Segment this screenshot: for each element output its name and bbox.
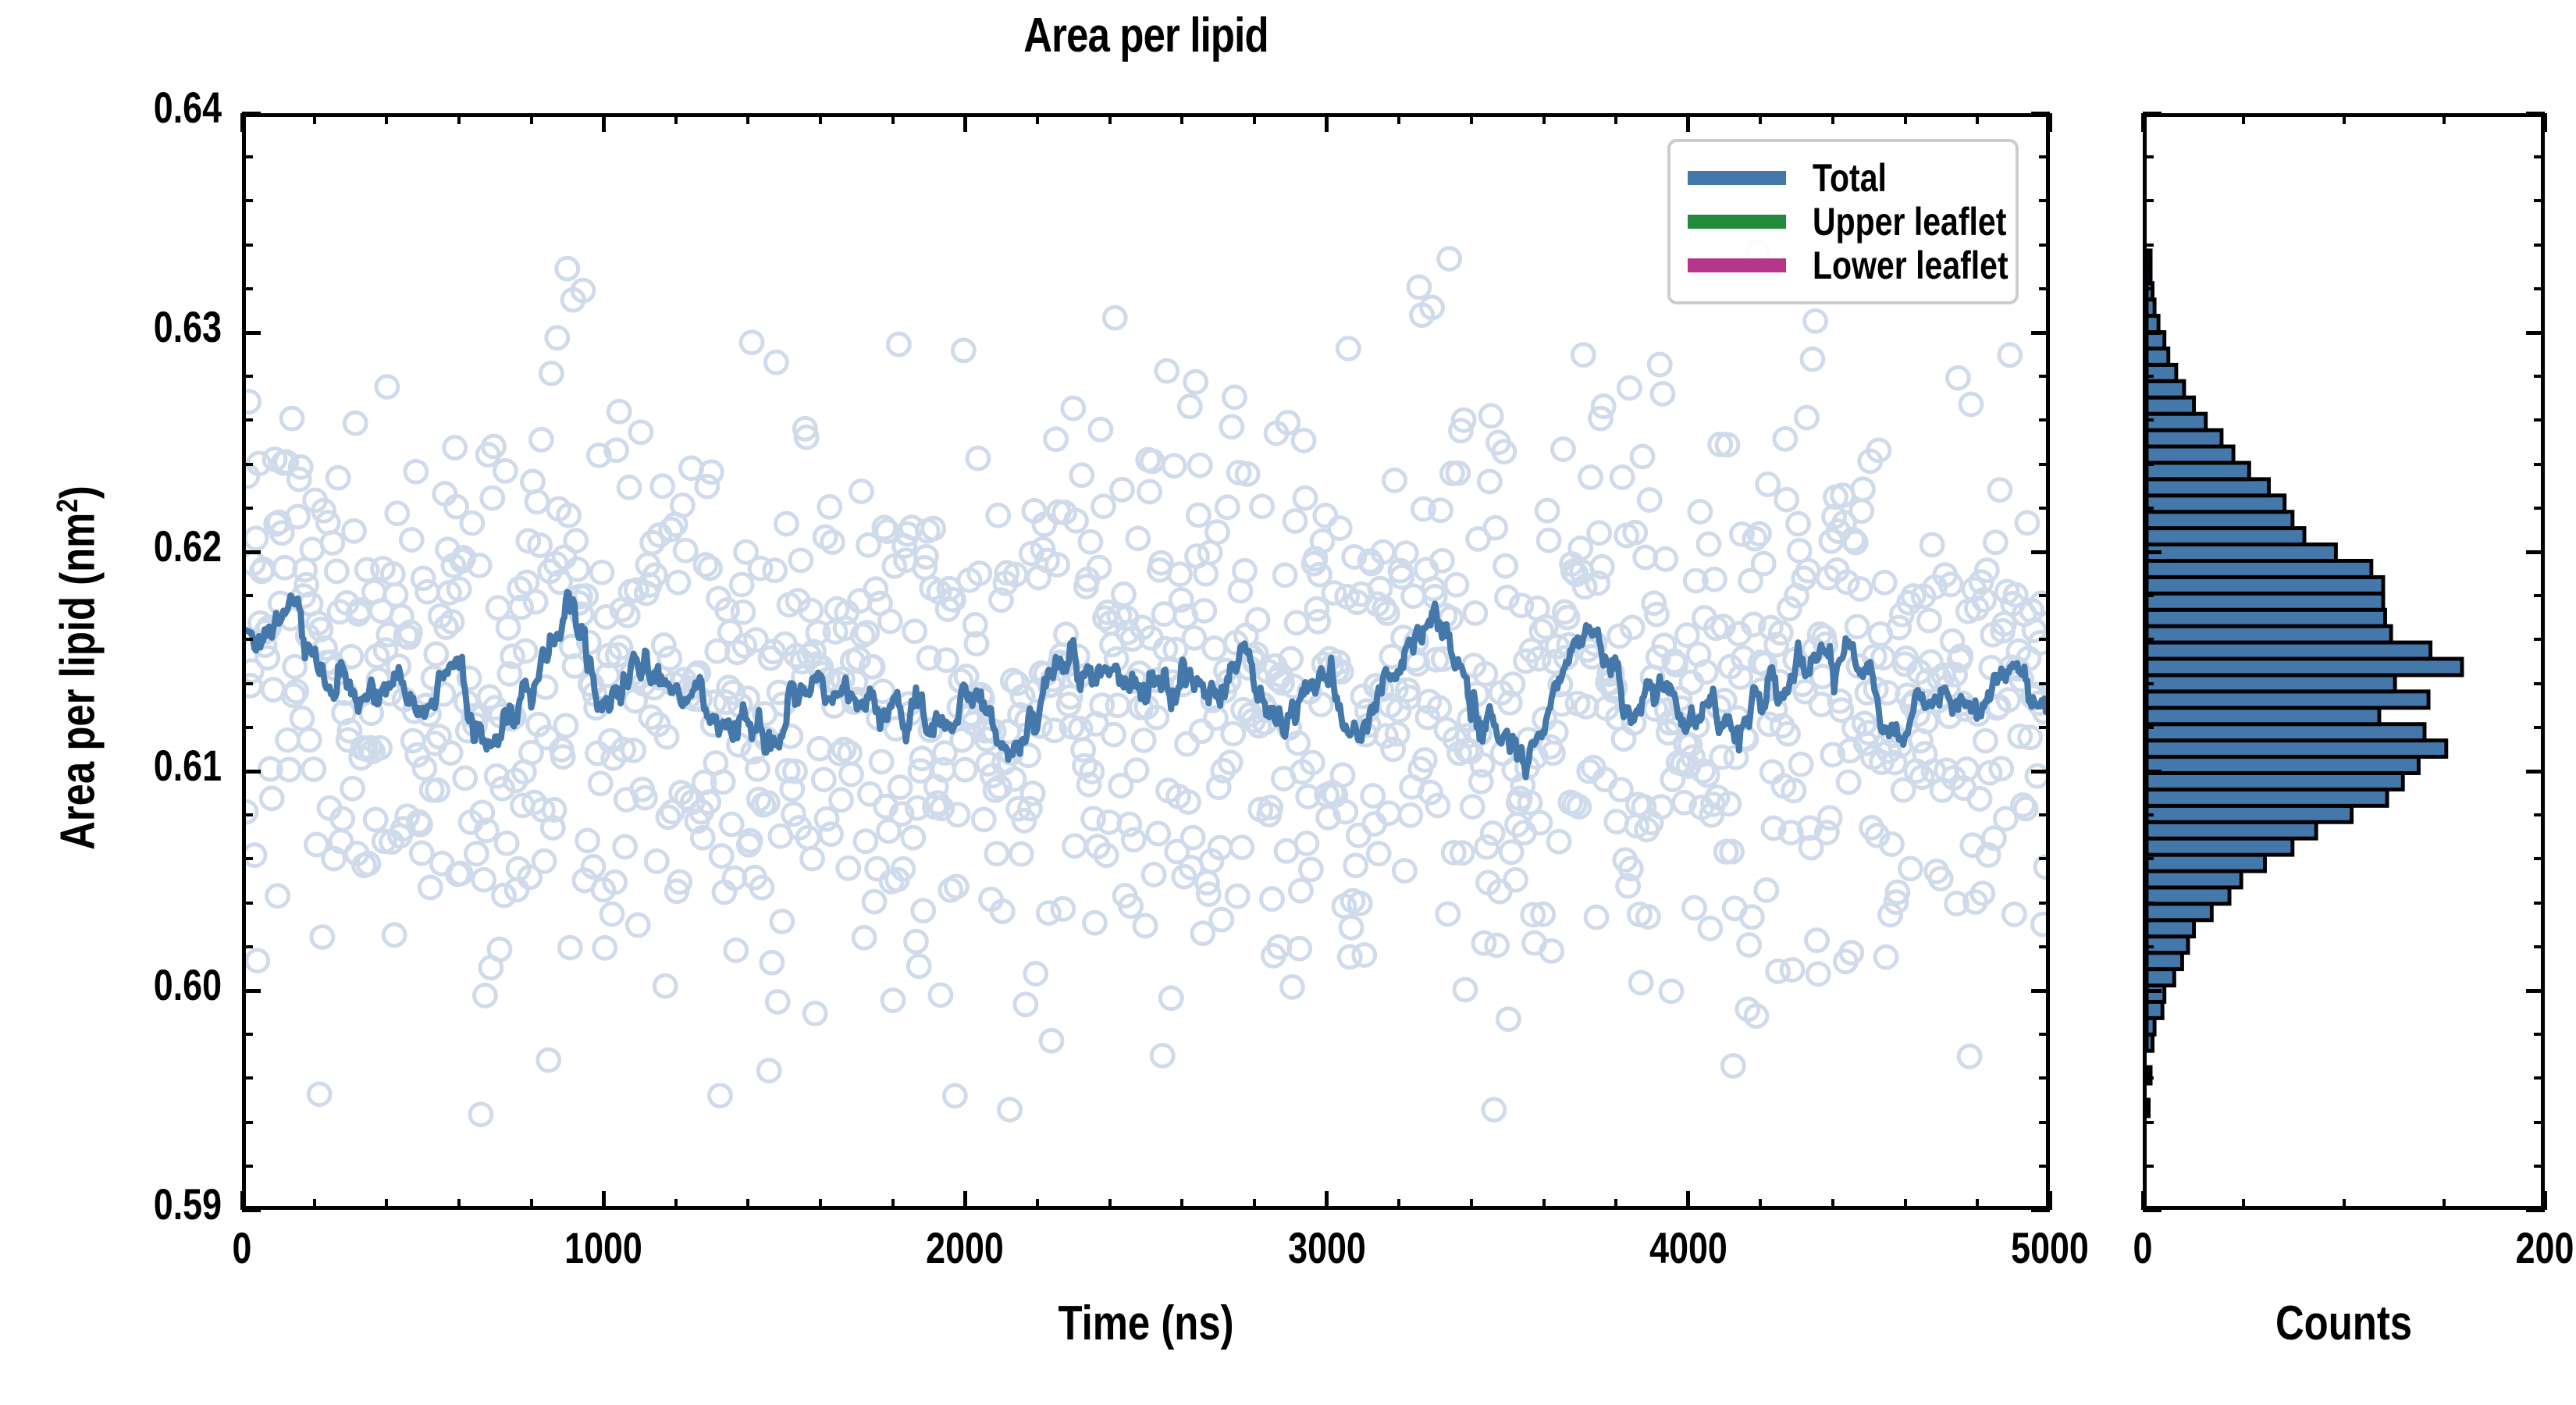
hist-y-tick-right <box>2534 1076 2545 1080</box>
histogram-bar <box>2147 479 2269 496</box>
x-tick-minor-top <box>1614 113 1617 124</box>
histogram-bar <box>2147 789 2387 806</box>
y-tick-minor <box>242 244 253 247</box>
y-tick-label: 0.61 <box>0 740 222 791</box>
y-tick-minor-right <box>2039 638 2050 641</box>
y-tick-minor-right <box>2039 902 2050 905</box>
histogram-bar <box>2147 593 2383 610</box>
x-tick-minor-top <box>891 113 895 124</box>
histogram-bar <box>2147 463 2249 479</box>
hist-y-tick-right <box>2534 857 2545 860</box>
hist-y-tick <box>2143 594 2154 597</box>
x-tick-major <box>602 1191 606 1210</box>
hist-y-tick <box>2143 244 2154 247</box>
y-tick-minor <box>242 155 253 158</box>
x-tick-minor <box>1108 1199 1112 1210</box>
histogram-bar <box>2147 560 2371 577</box>
histogram-bar <box>2147 512 2293 528</box>
y-axis-label-text: Area per lipid (nm <box>52 513 105 850</box>
y-tick-minor <box>242 507 253 510</box>
hist-y-tick-right <box>2526 989 2545 993</box>
x-tick-minor-top <box>1759 113 1762 124</box>
x-tick-major <box>1686 1191 1690 1210</box>
hist-y-tick-right <box>2534 155 2545 158</box>
x-tick-minor <box>1542 1199 1546 1210</box>
x-tick-major-top <box>963 113 967 132</box>
y-tick-minor-right <box>2039 244 2050 247</box>
x-tick-minor <box>891 1199 895 1210</box>
legend-swatch-lower-leaflet <box>1688 258 1786 272</box>
hist-y-tick-right <box>2534 638 2545 641</box>
y-tick-minor-right <box>2039 1076 2050 1080</box>
y-tick-minor <box>242 287 253 290</box>
x-tick-minor-top <box>819 113 822 124</box>
histogram-bar <box>2147 838 2293 855</box>
hist-y-tick <box>2143 112 2161 116</box>
y-tick-minor <box>242 418 253 421</box>
x-tick-minor-top <box>1036 113 1039 124</box>
histogram-bar <box>2147 708 2379 724</box>
legend-item-total[interactable]: Total <box>1688 156 1998 200</box>
x-tick-minor-top <box>674 113 678 124</box>
histogram-bar <box>2147 806 2352 822</box>
y-tick-minor-right <box>2039 463 2050 466</box>
histogram-bar <box>2147 953 2182 969</box>
y-tick-label: 0.63 <box>0 301 222 352</box>
histogram-bar <box>2147 545 2336 561</box>
hist-x-tick-minor <box>2443 1199 2446 1210</box>
x-tick-label: 0 <box>86 1222 398 1273</box>
y-tick-minor <box>242 813 253 816</box>
x-tick-minor <box>674 1199 678 1210</box>
hist-y-tick-right <box>2534 726 2545 729</box>
histogram-bar <box>2147 904 2211 920</box>
y-tick-major-right <box>2031 112 2050 116</box>
histogram-bar <box>2147 1018 2154 1034</box>
y-tick-major <box>242 112 261 116</box>
hist-x-tick-label: 0 <box>1987 1222 2299 1273</box>
y-tick-major-right <box>2031 989 2050 993</box>
hist-y-tick-right <box>2526 1208 2545 1212</box>
hist-y-tick-right <box>2534 1033 2545 1036</box>
figure-root: Area per lipid 0.640.630.620.610.600.590… <box>0 0 2576 1405</box>
hist-y-tick-right <box>2534 244 2545 247</box>
y-tick-minor-right <box>2039 945 2050 948</box>
histogram-bar <box>2147 920 2194 937</box>
hist-y-tick <box>2143 770 2161 774</box>
x-tick-minor <box>1831 1199 1834 1210</box>
histogram-bar <box>2147 348 2169 365</box>
legend-label-upper-leaflet: Upper leaflet <box>1813 199 2006 244</box>
hist-y-tick-right <box>2534 287 2545 290</box>
hist-y-tick-right <box>2534 199 2545 202</box>
hist-y-tick <box>2143 813 2154 816</box>
hist-x-tick-minor-top <box>2242 113 2245 124</box>
y-tick-minor-right <box>2039 155 2050 158</box>
y-axis-label-exponent: 2 <box>51 499 84 513</box>
y-tick-minor-right <box>2039 287 2050 290</box>
x-tick-minor <box>530 1199 533 1210</box>
y-tick-minor-right <box>2039 813 2050 816</box>
legend[interactable]: Total Upper leaflet Lower leaflet <box>1667 139 2019 304</box>
histogram-bar <box>2147 528 2304 545</box>
x-tick-minor-top <box>746 113 749 124</box>
y-tick-major <box>242 989 261 993</box>
y-tick-minor-right <box>2039 857 2050 860</box>
x-axis-label-main: Time (ns) <box>404 1296 1887 1351</box>
y-tick-major-right <box>2031 770 2050 774</box>
hist-x-tick-minor <box>2242 1199 2245 1210</box>
y-tick-minor <box>242 1033 253 1036</box>
x-tick-minor <box>1904 1199 1907 1210</box>
y-tick-minor <box>242 857 253 860</box>
hist-y-tick-right <box>2526 770 2545 774</box>
x-tick-major <box>240 1191 244 1210</box>
y-tick-minor-right <box>2039 1033 2050 1036</box>
hist-y-tick-right <box>2526 331 2545 335</box>
histogram-bar <box>2147 316 2158 333</box>
x-tick-minor <box>819 1199 822 1210</box>
x-tick-minor-top <box>530 113 533 124</box>
histogram-canvas <box>2147 117 2541 1206</box>
y-tick-minor <box>242 1121 253 1124</box>
y-tick-major-right <box>2031 331 2050 335</box>
y-tick-minor-right <box>2039 594 2050 597</box>
y-tick-minor-right <box>2039 199 2050 202</box>
histogram-bar <box>2147 692 2428 708</box>
x-tick-label: 1000 <box>447 1222 760 1273</box>
x-tick-major <box>1325 1191 1329 1210</box>
legend-label-total: Total <box>1813 155 1887 201</box>
y-tick-major <box>242 331 261 335</box>
y-tick-minor-right <box>2039 418 2050 421</box>
x-tick-minor <box>457 1199 461 1210</box>
x-tick-minor <box>1180 1199 1183 1210</box>
histogram-bar <box>2147 267 2151 283</box>
y-tick-minor <box>242 902 253 905</box>
hist-y-tick <box>2143 463 2154 466</box>
histogram-bar <box>2147 610 2386 626</box>
x-tick-minor-top <box>313 113 316 124</box>
histogram-bar <box>2147 414 2206 430</box>
hist-x-tick-major-top <box>2141 113 2145 132</box>
hist-y-tick <box>2143 1121 2154 1124</box>
histogram-bar <box>2147 381 2184 397</box>
x-tick-minor-top <box>1904 113 1907 124</box>
hist-y-tick <box>2143 199 2154 202</box>
y-tick-major <box>242 1208 261 1212</box>
histogram-bar <box>2147 430 2222 446</box>
x-tick-minor <box>1759 1199 1762 1210</box>
y-tick-minor <box>242 682 253 685</box>
x-tick-minor <box>313 1199 316 1210</box>
hist-y-tick-right <box>2526 112 2545 116</box>
histogram-bar <box>2147 969 2174 986</box>
x-tick-minor-top <box>457 113 461 124</box>
x-tick-minor <box>1614 1199 1617 1210</box>
histogram-bar <box>2147 986 2165 1002</box>
x-tick-minor-top <box>1976 113 1979 124</box>
hist-y-tick <box>2143 418 2154 421</box>
hist-y-tick <box>2143 1076 2154 1080</box>
hist-y-tick <box>2143 550 2161 554</box>
hist-x-tick-label: 200 <box>2389 1222 2576 1273</box>
y-tick-minor-right <box>2039 1121 2050 1124</box>
x-tick-minor <box>1036 1199 1039 1210</box>
histogram-panel <box>2143 113 2545 1210</box>
y-tick-minor <box>242 199 253 202</box>
hist-y-tick-right <box>2534 1165 2545 1168</box>
y-tick-major-right <box>2031 550 2050 554</box>
hist-y-tick-right <box>2534 594 2545 597</box>
hist-x-tick-minor <box>2343 1199 2346 1210</box>
histogram-bar <box>2147 887 2229 904</box>
x-tick-major <box>963 1191 967 1210</box>
legend-swatch-total <box>1688 171 1786 185</box>
hist-y-tick <box>2143 375 2154 378</box>
y-tick-minor <box>242 375 253 378</box>
hist-y-tick <box>2143 331 2161 335</box>
histogram-bar <box>2147 496 2285 512</box>
histogram-bar <box>2147 1001 2162 1018</box>
y-tick-major <box>242 550 261 554</box>
hist-x-tick-major <box>2543 1191 2547 1210</box>
histogram-bar <box>2147 1100 2149 1116</box>
hist-y-tick <box>2143 1165 2154 1168</box>
x-tick-minor-top <box>1108 113 1112 124</box>
y-tick-minor-right <box>2039 375 2050 378</box>
hist-y-tick <box>2143 726 2154 729</box>
histogram-bar <box>2147 741 2446 757</box>
y-tick-minor <box>242 1076 253 1080</box>
y-axis-label: Area per lipid (nm2) <box>51 213 106 1122</box>
x-tick-major <box>2048 1191 2052 1210</box>
hist-y-tick <box>2143 945 2154 948</box>
x-tick-label: 3000 <box>1171 1222 1483 1273</box>
hist-y-tick-right <box>2534 375 2545 378</box>
histogram-bar <box>2147 757 2418 774</box>
hist-y-tick-right <box>2534 682 2545 685</box>
x-tick-minor-top <box>1542 113 1546 124</box>
x-tick-minor-top <box>385 113 388 124</box>
hist-y-tick <box>2143 989 2161 993</box>
histogram-bar <box>2147 365 2176 381</box>
y-tick-label: 0.62 <box>0 521 222 571</box>
x-tick-minor <box>746 1199 749 1210</box>
x-tick-minor <box>1470 1199 1473 1210</box>
hist-y-tick <box>2143 902 2154 905</box>
y-axis-label-tail: ) <box>52 486 105 499</box>
y-tick-minor-right <box>2039 507 2050 510</box>
histogram-bar <box>2147 855 2265 871</box>
histogram-bar <box>2147 659 2462 675</box>
histogram-bar <box>2147 773 2403 789</box>
hist-y-tick-right <box>2526 550 2545 554</box>
x-axis-label-hist: Counts <box>2179 1296 2508 1351</box>
legend-label-lower-leaflet: Lower leaflet <box>1813 243 2008 288</box>
x-tick-minor-top <box>1470 113 1473 124</box>
y-tick-minor <box>242 726 253 729</box>
histogram-bar <box>2147 642 2431 659</box>
histogram-bar <box>2147 822 2316 838</box>
x-tick-minor <box>1253 1199 1256 1210</box>
hist-y-tick <box>2143 1033 2154 1036</box>
x-tick-minor <box>1976 1199 1979 1210</box>
histogram-bar <box>2147 283 2153 300</box>
hist-y-tick <box>2143 155 2154 158</box>
y-tick-minor-right <box>2039 726 2050 729</box>
hist-x-tick-minor-top <box>2343 113 2346 124</box>
histogram-bar <box>2147 675 2395 692</box>
hist-y-tick-right <box>2534 902 2545 905</box>
hist-y-tick <box>2143 682 2154 685</box>
hist-y-tick-right <box>2534 945 2545 948</box>
hist-x-tick-major-top <box>2543 113 2547 132</box>
hist-y-tick <box>2143 857 2154 860</box>
x-tick-major-top <box>2048 113 2052 132</box>
histogram-bar <box>2147 577 2383 593</box>
x-tick-label: 4000 <box>1532 1222 1845 1273</box>
y-tick-major <box>242 770 261 774</box>
hist-y-tick-right <box>2534 813 2545 816</box>
y-tick-minor <box>242 1165 253 1168</box>
histogram-bar <box>2147 1034 2153 1051</box>
legend-item-upper-leaflet[interactable]: Upper leaflet <box>1688 200 1998 244</box>
hist-y-tick <box>2143 638 2154 641</box>
legend-item-lower-leaflet[interactable]: Lower leaflet <box>1688 244 1998 287</box>
histogram-bar <box>2147 446 2233 463</box>
x-tick-major-top <box>1686 113 1690 132</box>
histogram-bar <box>2147 397 2194 414</box>
x-tick-minor <box>1397 1199 1400 1210</box>
hist-x-tick-minor-top <box>2443 113 2446 124</box>
hist-y-tick <box>2143 507 2154 510</box>
x-tick-major-top <box>602 113 606 132</box>
hist-y-tick <box>2143 287 2154 290</box>
legend-swatch-upper-leaflet <box>1688 215 1786 229</box>
histogram-bar <box>2147 724 2425 741</box>
hist-x-tick-major <box>2141 1191 2145 1210</box>
y-tick-minor-right <box>2039 1165 2050 1168</box>
page-title: Area per lipid <box>404 8 1887 63</box>
hist-y-tick-right <box>2534 507 2545 510</box>
x-tick-minor-top <box>1180 113 1183 124</box>
hist-y-tick <box>2143 1208 2161 1212</box>
x-tick-minor <box>385 1199 388 1210</box>
y-tick-minor <box>242 594 253 597</box>
hist-y-tick-right <box>2534 463 2545 466</box>
x-tick-major-top <box>240 113 244 132</box>
y-tick-minor-right <box>2039 682 2050 685</box>
histogram-bar <box>2147 300 2154 316</box>
x-tick-minor-top <box>1397 113 1400 124</box>
x-tick-minor-top <box>1831 113 1834 124</box>
histogram-bar <box>2147 871 2241 887</box>
x-tick-label: 2000 <box>809 1222 1121 1273</box>
y-tick-minor <box>242 463 253 466</box>
y-tick-label: 0.60 <box>0 959 222 1010</box>
histogram-bar <box>2147 1067 2151 1083</box>
y-tick-label: 0.64 <box>0 82 222 133</box>
hist-y-tick-right <box>2534 1121 2545 1124</box>
x-tick-major-top <box>1325 113 1329 132</box>
histogram-bar <box>2147 626 2391 642</box>
y-tick-major-right <box>2031 1208 2050 1212</box>
x-tick-minor-top <box>1253 113 1256 124</box>
y-tick-minor <box>242 638 253 641</box>
y-tick-minor <box>242 945 253 948</box>
hist-y-tick-right <box>2534 418 2545 421</box>
histogram-bar <box>2147 251 2151 267</box>
